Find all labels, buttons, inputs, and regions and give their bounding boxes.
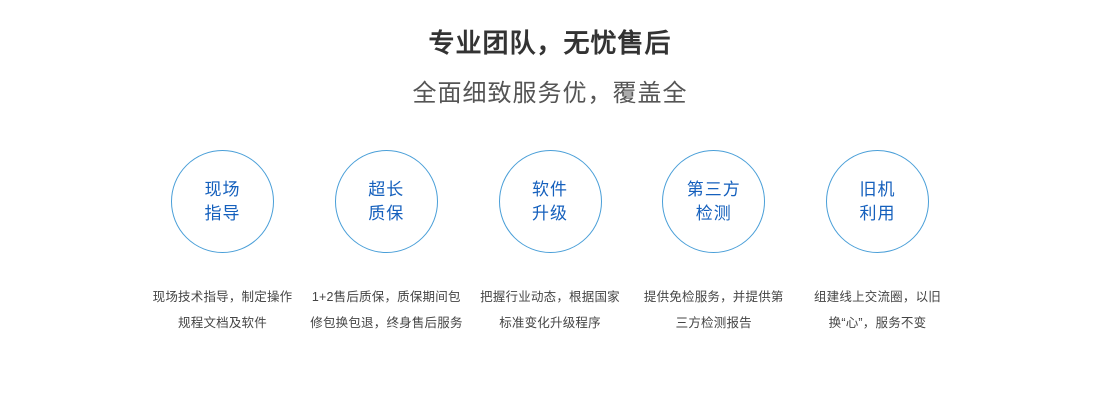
circle-label-line-1: 现场 <box>205 178 241 202</box>
feature-item-software-upgrade: 软件 升级 把握行业动态，根据国家 标准变化升级程序 <box>473 150 628 336</box>
circle-label-line-1: 超长 <box>368 178 404 202</box>
caption-line-2: 换“心”，服务不变 <box>802 310 954 336</box>
caption-line-1: 提供免检服务，并提供第 <box>638 284 790 310</box>
feature-circle-trade-in: 旧机 利用 <box>826 150 929 253</box>
feature-caption-third-party-inspection: 提供免检服务，并提供第 三方检测报告 <box>638 284 790 336</box>
feature-item-onsite-guidance: 现场 指导 现场技术指导，制定操作 规程文档及软件 <box>145 150 300 336</box>
feature-circle-onsite-guidance: 现场 指导 <box>171 150 274 253</box>
caption-line-1: 现场技术指导，制定操作 <box>147 284 299 310</box>
caption-line-2: 修包换包退，终身售后服务 <box>310 310 462 336</box>
circle-label-line-2: 检测 <box>696 202 732 226</box>
page-subtitle: 全面细致服务优，覆盖全 <box>0 78 1100 110</box>
feature-circle-extended-warranty: 超长 质保 <box>335 150 438 253</box>
feature-caption-software-upgrade: 把握行业动态，根据国家 标准变化升级程序 <box>474 284 626 336</box>
feature-list: 现场 指导 现场技术指导，制定操作 规程文档及软件 超长 质保 1+2售后质保，… <box>145 150 955 336</box>
caption-line-2: 规程文档及软件 <box>147 310 299 336</box>
page-title: 专业团队，无忧售后 <box>0 26 1100 60</box>
circle-label-line-2: 质保 <box>368 202 404 226</box>
circle-label-line-2: 升级 <box>532 202 568 226</box>
heading-block: 专业团队，无忧售后 全面细致服务优，覆盖全 <box>0 26 1100 110</box>
caption-line-1: 组建线上交流圈，以旧 <box>802 284 954 310</box>
circle-label-line-1: 软件 <box>532 178 568 202</box>
circle-label-line-1: 旧机 <box>860 178 896 202</box>
feature-caption-extended-warranty: 1+2售后质保，质保期间包 修包换包退，终身售后服务 <box>310 284 462 336</box>
feature-item-trade-in: 旧机 利用 组建线上交流圈，以旧 换“心”，服务不变 <box>800 150 955 336</box>
feature-circle-third-party-inspection: 第三方 检测 <box>662 150 765 253</box>
feature-item-third-party-inspection: 第三方 检测 提供免检服务，并提供第 三方检测报告 <box>636 150 791 336</box>
circle-label-line-1: 第三方 <box>687 178 741 202</box>
circle-label-line-2: 利用 <box>860 202 896 226</box>
feature-caption-onsite-guidance: 现场技术指导，制定操作 规程文档及软件 <box>147 284 299 336</box>
feature-item-extended-warranty: 超长 质保 1+2售后质保，质保期间包 修包换包退，终身售后服务 <box>309 150 464 336</box>
caption-line-1: 1+2售后质保，质保期间包 <box>310 284 462 310</box>
feature-circle-software-upgrade: 软件 升级 <box>499 150 602 253</box>
caption-line-2: 三方检测报告 <box>638 310 790 336</box>
feature-caption-trade-in: 组建线上交流圈，以旧 换“心”，服务不变 <box>802 284 954 336</box>
caption-line-1: 把握行业动态，根据国家 <box>474 284 626 310</box>
service-promise-banner: 专业团队，无忧售后 全面细致服务优，覆盖全 现场 指导 现场技术指导，制定操作 … <box>0 0 1100 404</box>
circle-label-line-2: 指导 <box>205 202 241 226</box>
caption-line-2: 标准变化升级程序 <box>474 310 626 336</box>
